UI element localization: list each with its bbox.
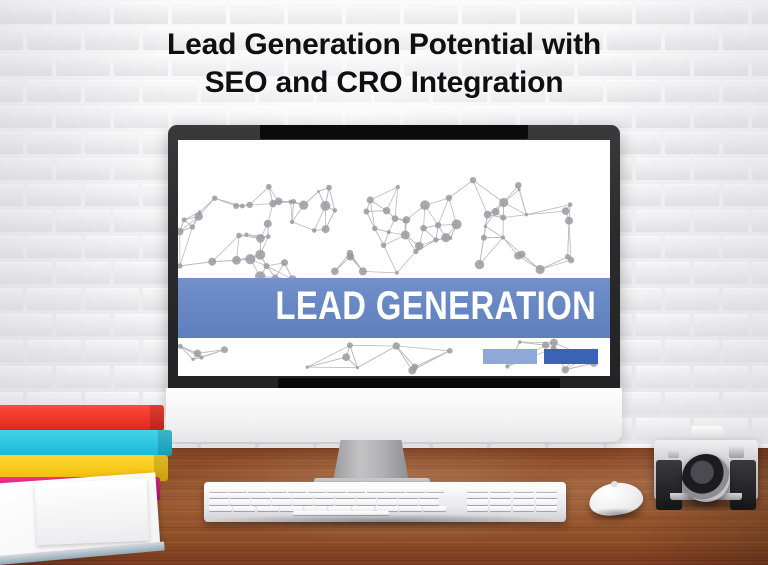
desktop-monitor: LEAD GENERATION <box>168 125 620 391</box>
camera-lens <box>682 454 730 502</box>
scene-root: Lead Generation Potential with SEO and C… <box>0 0 768 565</box>
chip-dark[interactable] <box>544 349 598 364</box>
chip-light[interactable] <box>483 349 537 364</box>
banner-chip-group <box>483 349 598 364</box>
banner-title: LEAD GENERATION <box>205 287 596 327</box>
page-title-line-2: SEO and CRO Integration <box>0 64 768 102</box>
notebook-right-page <box>35 479 149 546</box>
network-mesh-graphic <box>178 140 610 376</box>
book-red <box>0 405 164 431</box>
banner-title-text: LEAD GENERATION <box>275 286 596 326</box>
monitor-screen: LEAD GENERATION <box>178 140 610 376</box>
keyboard-keys[interactable] <box>209 487 561 515</box>
page-title: Lead Generation Potential with SEO and C… <box>0 26 768 102</box>
vintage-slr-camera <box>654 424 758 506</box>
lead-generation-banner: LEAD GENERATION <box>178 278 610 338</box>
keyboard[interactable] <box>204 482 566 522</box>
open-notebook <box>0 472 160 557</box>
camera-grip-right <box>730 460 756 510</box>
monitor-bezel: LEAD GENERATION <box>168 125 620 391</box>
camera-shutter-button <box>668 449 679 458</box>
camera-grip-left <box>656 460 682 510</box>
monitor-stand-neck <box>333 440 409 482</box>
book-cyan <box>0 430 172 456</box>
camera-film-dial <box>729 446 744 458</box>
monitor-chin <box>166 388 622 442</box>
monitor-bezel-top <box>260 125 528 139</box>
page-title-line-1: Lead Generation Potential with <box>167 28 601 61</box>
